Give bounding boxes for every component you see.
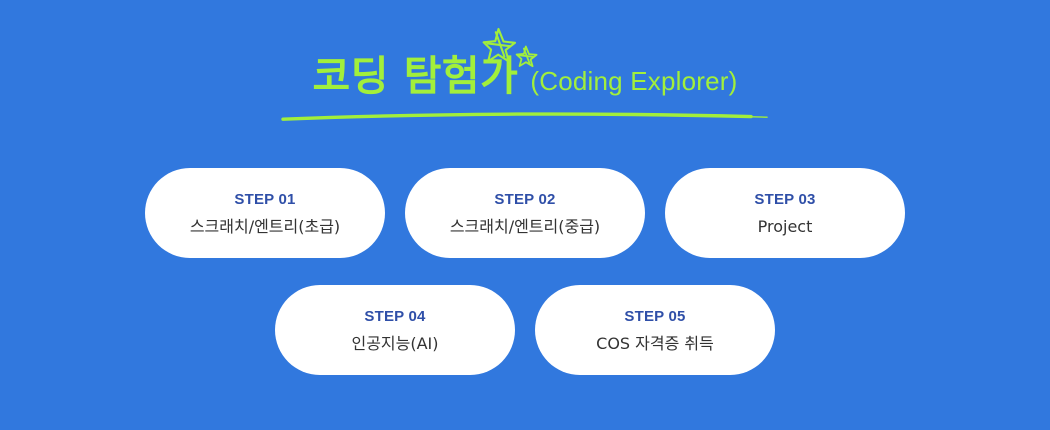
poster-header: 코딩 탐험가 (Coding Explorer) [0,0,1050,140]
step-card-03[interactable]: STEP 03 Project [665,168,905,258]
step-card-01-label: STEP 01 [234,192,295,207]
step-card-03-label: STEP 03 [754,192,815,207]
title-english: (Coding Explorer) [530,68,737,94]
step-cards-section: STEP 01 스크래치/엔트리(초급) STEP 02 스크래치/엔트리(중급… [0,140,1050,430]
step-card-04[interactable]: STEP 04 인공지능(AI) [275,285,515,375]
step-card-05-description: COS 자격증 취득 [596,336,714,352]
step-row-1: STEP 01 스크래치/엔트리(초급) STEP 02 스크래치/엔트리(중급… [0,168,1050,258]
coding-explorer-poster: 코딩 탐험가 (Coding Explorer) [0,0,1050,430]
step-card-02-description: 스크래치/엔트리(중급) [450,219,600,235]
step-card-04-description: 인공지능(AI) [351,336,438,352]
step-card-01-description: 스크래치/엔트리(초급) [190,219,340,235]
step-row-2: STEP 04 인공지능(AI) STEP 05 COS 자격증 취득 [0,285,1050,375]
step-card-05[interactable]: STEP 05 COS 자격증 취득 [535,285,775,375]
step-card-02[interactable]: STEP 02 스크래치/엔트리(중급) [405,168,645,258]
step-card-04-label: STEP 04 [364,309,425,324]
poster-title: 코딩 탐험가 (Coding Explorer) [312,56,737,97]
title-korean: 코딩 탐험가 [312,56,518,97]
step-card-02-label: STEP 02 [494,192,555,207]
step-card-01[interactable]: STEP 01 스크래치/엔트리(초급) [145,168,385,258]
step-card-05-label: STEP 05 [624,309,685,324]
step-card-03-description: Project [758,219,813,235]
hand-drawn-underline-icon [281,110,769,124]
